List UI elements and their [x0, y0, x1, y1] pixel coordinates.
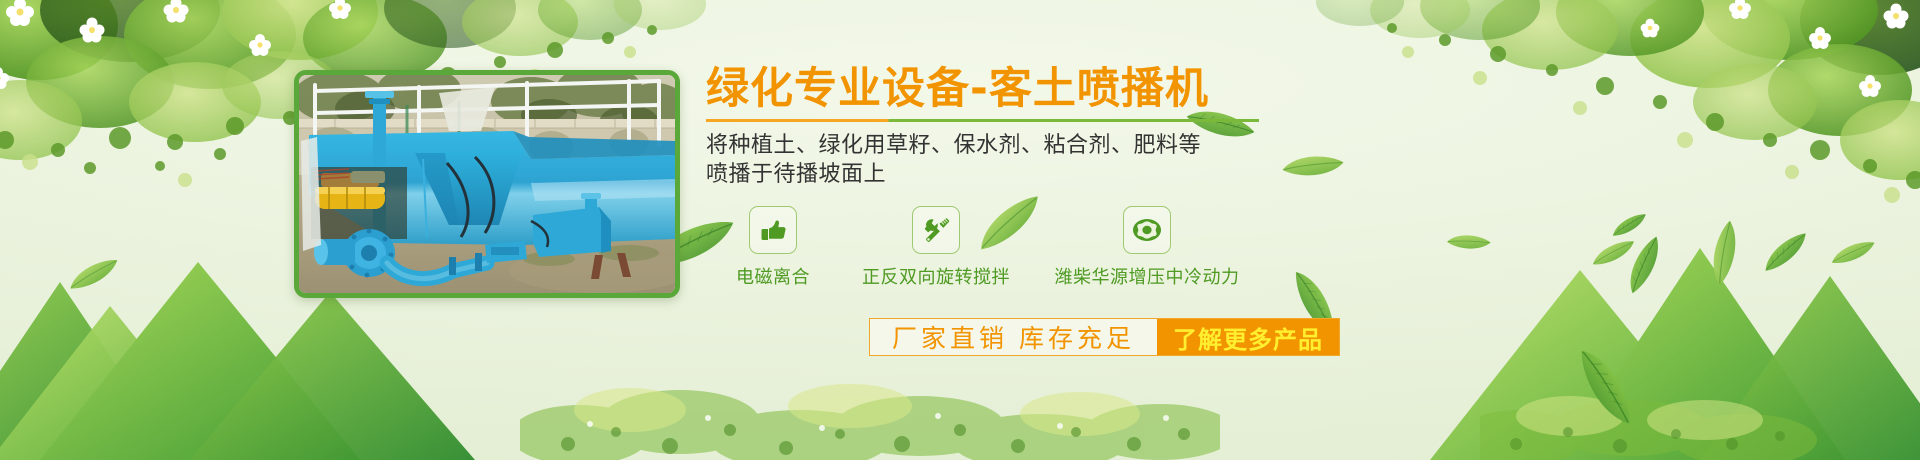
feature-item-1[interactable]: 电磁离合 [706, 206, 840, 289]
subtitle-line-2: 喷播于待播坡面上 [706, 159, 1306, 188]
subtitle-line-1: 将种植土、绿化用草籽、保水剂、粘合剂、肥料等 [706, 130, 1306, 159]
subtitle: 将种植土、绿化用草籽、保水剂、粘合剂、肥料等 喷播于待播坡面上 [706, 130, 1306, 188]
tools-icon [912, 206, 960, 254]
promo-banner: 绿化专业设备-客土喷播机 将种植土、绿化用草籽、保水剂、粘合剂、肥料等 喷播于待… [0, 0, 1920, 460]
thumbs-up-icon [749, 206, 797, 254]
feature-label-1: 电磁离合 [736, 263, 810, 289]
feature-list: 电磁离合 正反双向旋转搅拌 [706, 206, 1306, 289]
title-underline-rule [706, 119, 1259, 122]
feature-item-2[interactable]: 正反双向旋转搅拌 [840, 206, 1032, 289]
grass-texture-right [1480, 340, 1820, 460]
learn-more-button[interactable]: 了解更多产品 [1157, 319, 1339, 355]
feature-label-2: 正反双向旋转搅拌 [862, 263, 1010, 289]
product-photo-frame[interactable] [294, 70, 680, 298]
cta-bar: 厂家直销 库存充足 了解更多产品 [869, 318, 1340, 356]
gear-ring-icon [1123, 206, 1171, 254]
feature-item-3[interactable]: 潍柴华源增压中冷动力 [1032, 206, 1262, 289]
page-title: 绿化专业设备-客土喷播机 [706, 66, 1306, 113]
product-photo [299, 75, 675, 293]
cta-slogan: 厂家直销 库存充足 [870, 319, 1157, 355]
feature-label-3: 潍柴华源增压中冷动力 [1055, 263, 1240, 289]
promo-copy: 绿化专业设备-客土喷播机 将种植土、绿化用草籽、保水剂、粘合剂、肥料等 喷播于待… [706, 66, 1306, 289]
grass-texture-left [520, 340, 1220, 460]
